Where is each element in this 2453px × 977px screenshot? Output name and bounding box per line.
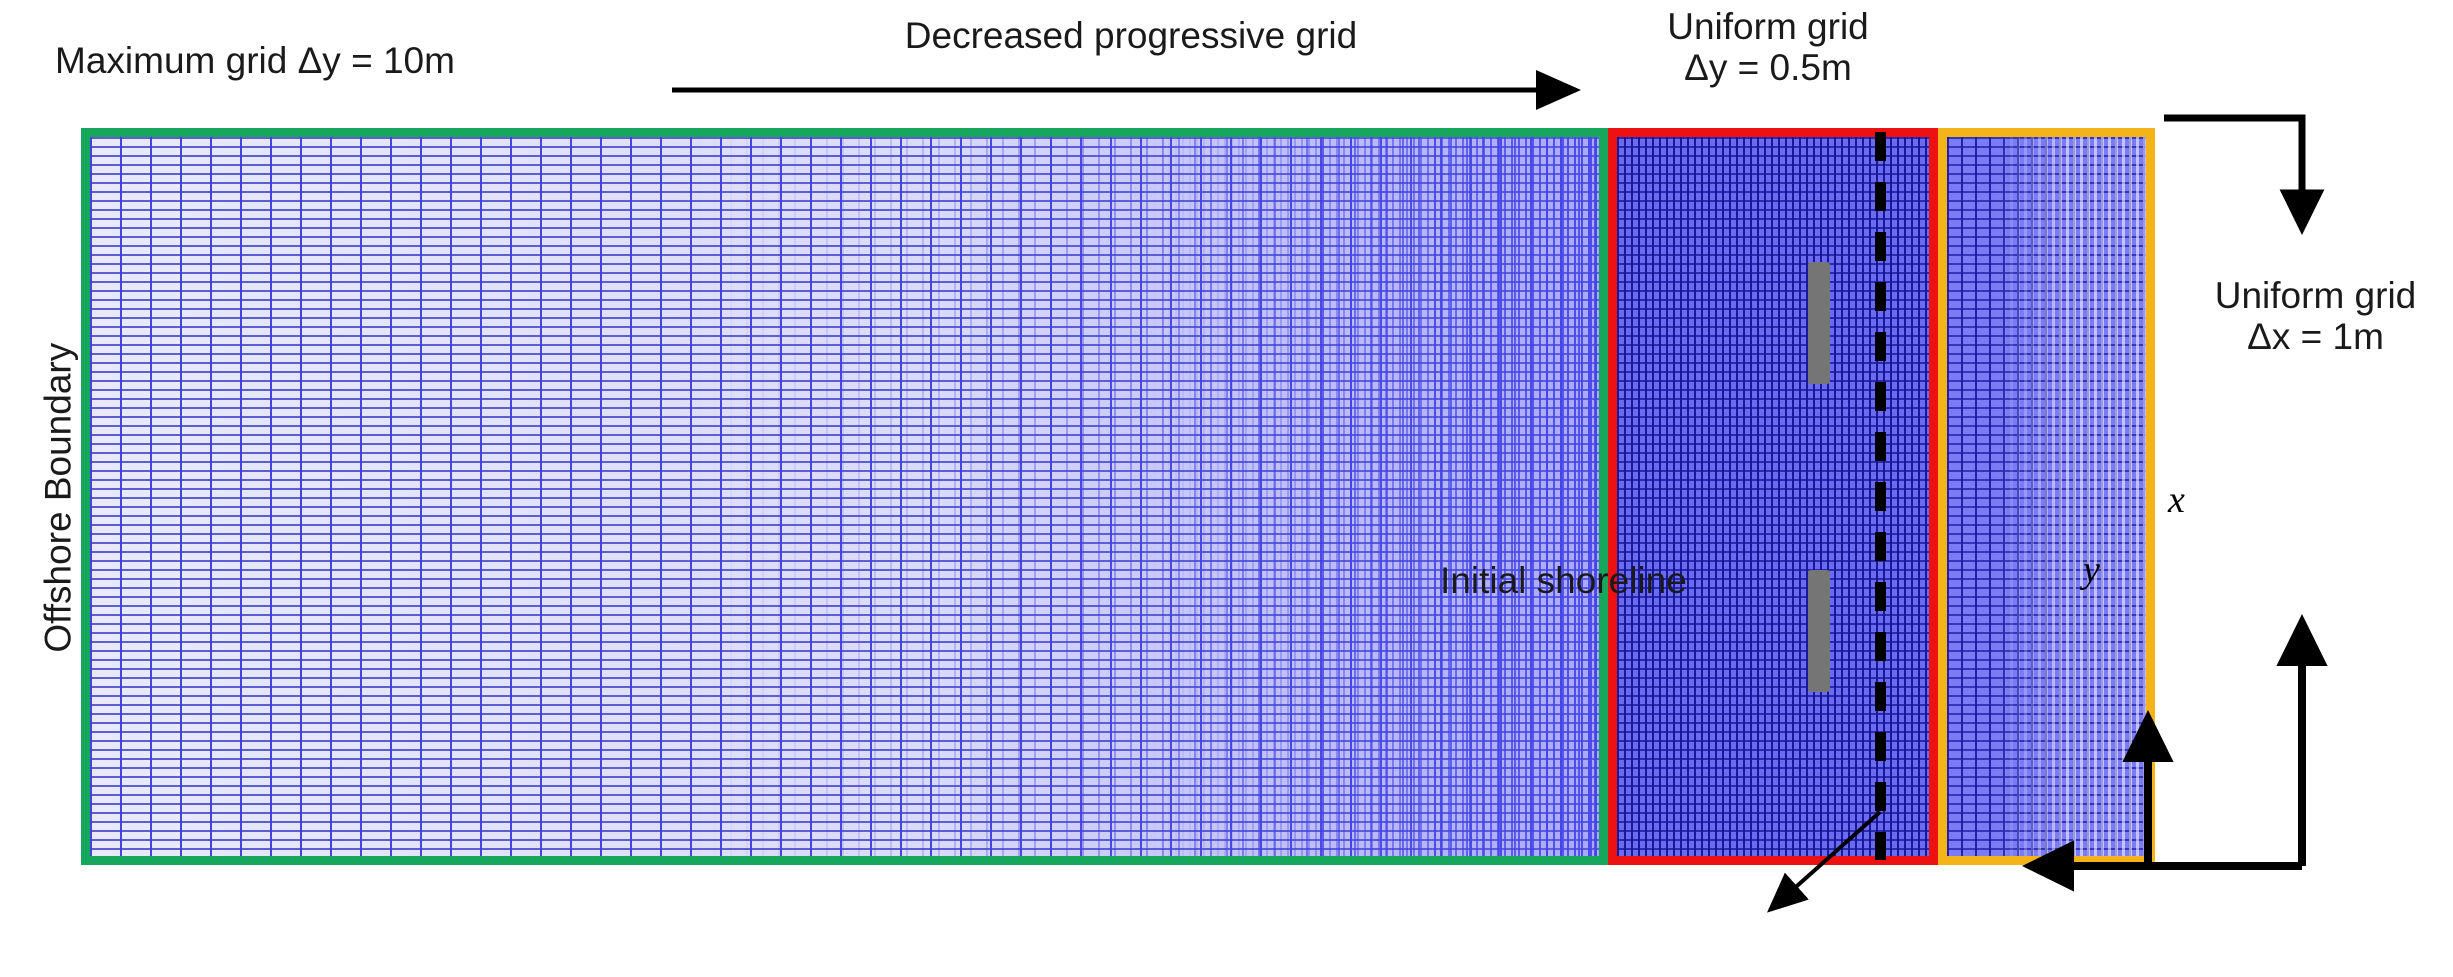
dx-down-arrow bbox=[2164, 118, 2302, 228]
mesh-uniform-dx-densify bbox=[1947, 137, 2146, 856]
grid-region-uniform-dy bbox=[1608, 128, 1938, 865]
uniform-grid-dx-label: Uniform grid Δx = 1m bbox=[2178, 275, 2453, 358]
decreased-progressive-grid-label: Decreased progressive grid bbox=[672, 15, 1590, 56]
grid-region-uniform-dx bbox=[1938, 128, 2155, 865]
initial-shoreline-label: Initial shoreline bbox=[1440, 560, 1687, 601]
mesh-coarse-shading bbox=[90, 137, 1599, 856]
breakwater-lower bbox=[1808, 570, 1830, 692]
breakwater-upper bbox=[1808, 262, 1830, 384]
uniform-grid-dx-line1: Uniform grid bbox=[2178, 275, 2453, 316]
axis-x-label: x bbox=[2168, 478, 2185, 522]
maximum-grid-label: Maximum grid Δy = 10m bbox=[55, 40, 455, 81]
uniform-grid-dx-line2: Δx = 1m bbox=[2178, 316, 2453, 357]
axis-y-label: y bbox=[2083, 548, 2100, 592]
uniform-grid-dy-line1: Uniform grid bbox=[1593, 6, 1943, 47]
uniform-grid-dy-label: Uniform grid Δy = 0.5m bbox=[1593, 6, 1943, 89]
uniform-grid-dy-line2: Δy = 0.5m bbox=[1593, 47, 1943, 88]
offshore-boundary-label: Offshore Boundary bbox=[37, 288, 78, 708]
initial-shoreline-dashed-line bbox=[1875, 132, 1886, 860]
figure-canvas: Maximum grid Δy = 10m Decreased progress… bbox=[0, 0, 2453, 977]
grid-region-coarse-progressive bbox=[81, 128, 1608, 865]
